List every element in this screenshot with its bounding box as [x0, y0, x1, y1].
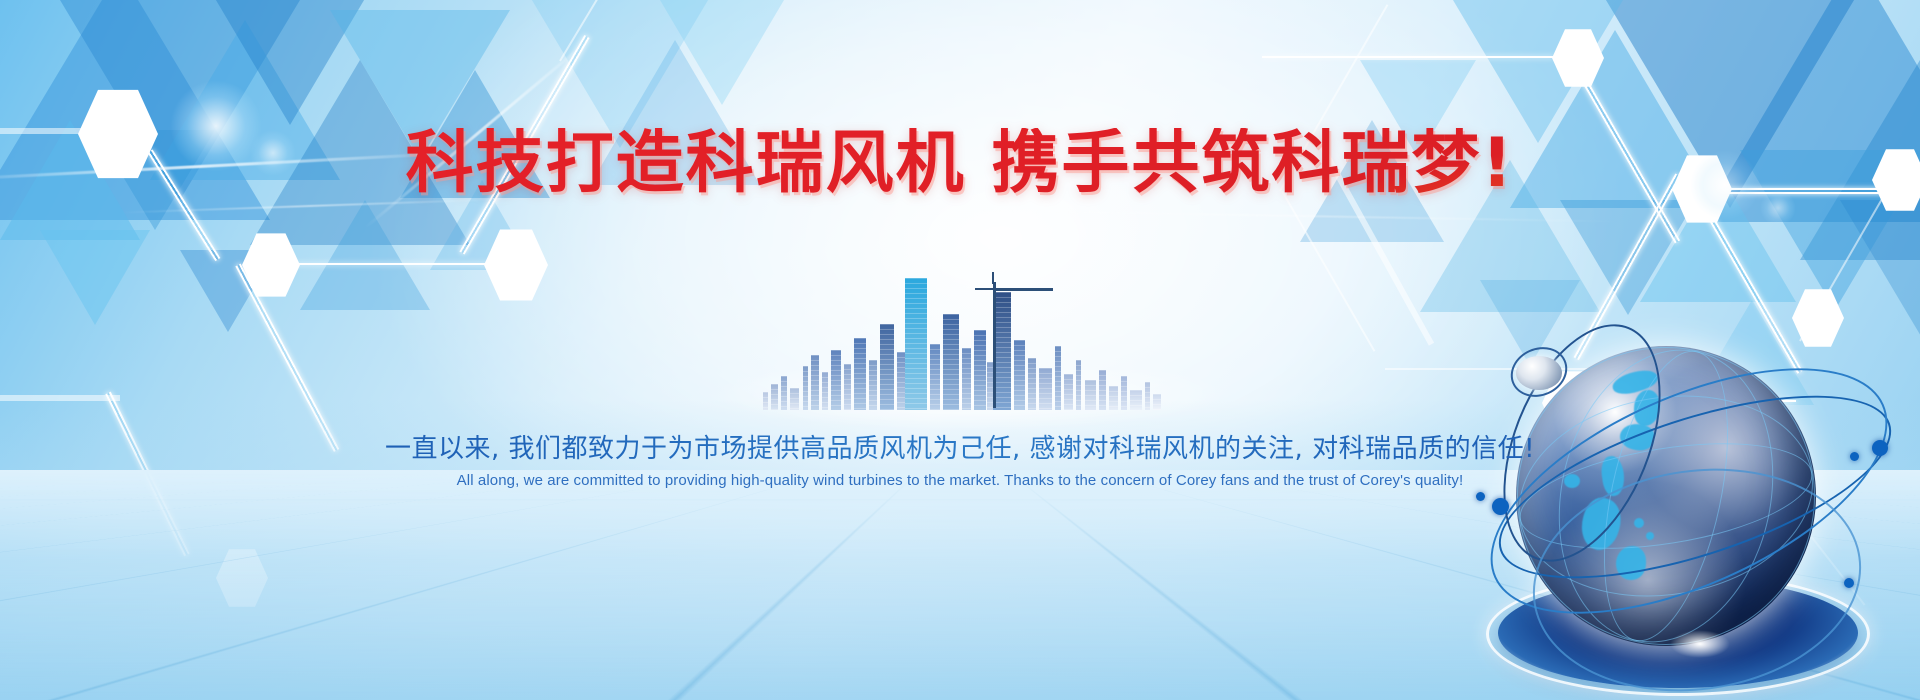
orbit-node-lower-right	[1844, 578, 1854, 588]
crane-counterjib-icon	[975, 288, 995, 290]
city-skyline-illustration	[755, 268, 1185, 420]
crane-tip-icon	[992, 272, 994, 284]
orbit-node-left-small	[1476, 492, 1485, 501]
crane-jib-icon	[995, 288, 1053, 291]
subtitle-english: All along, we are committed to providing…	[0, 472, 1920, 489]
subtitle-chinese: 一直以来, 我们都致力于为市场提供高品质风机为己任, 感谢对科瑞风机的关注, 对…	[0, 428, 1920, 465]
orbit-node-left	[1492, 498, 1509, 515]
globe-orbit-illustration	[1480, 300, 1920, 700]
page-title: 科技打造科瑞风机 携手共筑科瑞梦!	[0, 128, 1920, 199]
crane-mast-icon	[993, 282, 996, 408]
promotional-banner: 科技打造科瑞风机 携手共筑科瑞梦!	[0, 0, 1920, 700]
